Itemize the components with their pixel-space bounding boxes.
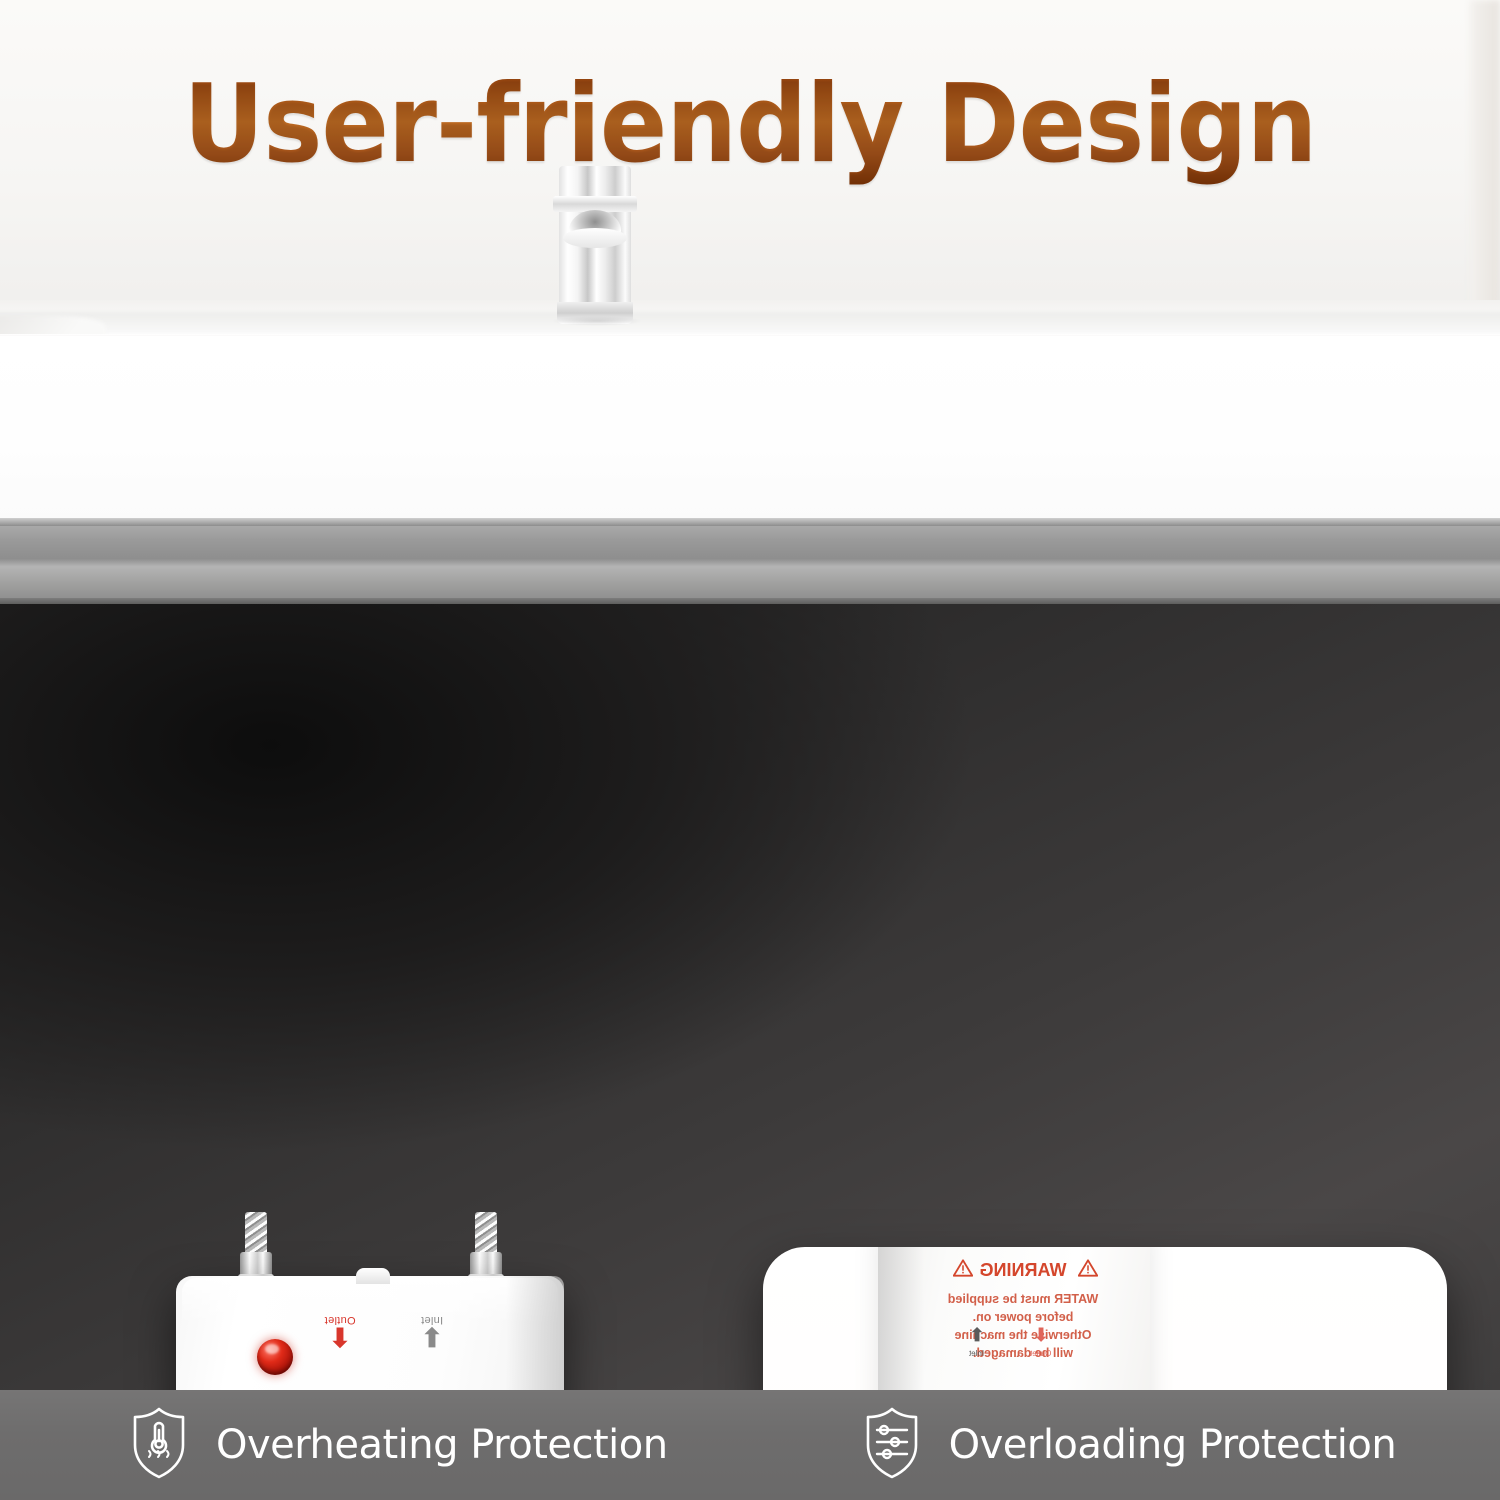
hose-braid xyxy=(475,1212,497,1256)
inset-warning-heading-row: WARNING xyxy=(923,1259,1123,1282)
inlet-label: Inlet xyxy=(396,1314,468,1326)
banner-label: Overheating Protection xyxy=(216,1422,668,1468)
water-heater-unit: ⬇ Inlet ⬆ Outlet xyxy=(176,1276,574,1390)
shield-thermometer-icon xyxy=(128,1406,190,1485)
inlet-arrow-icon: ⬆ xyxy=(949,1327,1005,1343)
inlet-outlet-markings: ⬇ Inlet ⬆ Outlet xyxy=(288,1296,468,1348)
hose-braid xyxy=(245,1212,267,1256)
cabinet-rail xyxy=(0,526,1500,604)
inset-warning-heading-text: WARNING xyxy=(980,1260,1067,1281)
banner-item-overheating: Overheating Protection xyxy=(128,1406,668,1485)
temperature-callout-panel: WARNING WATER must be supplied before po… xyxy=(763,1247,1447,1390)
outlet-arrow-icon: ⬆ xyxy=(304,1326,376,1348)
casing-top-nub xyxy=(356,1268,390,1284)
sink-inner-shadow xyxy=(0,312,1500,334)
outlet-label: Outlet xyxy=(304,1314,376,1326)
counter-underside-shadow xyxy=(0,518,1500,526)
inset-warning-line-2: before power on. xyxy=(923,1308,1123,1326)
inset-inlet-marking: ⬆ Inlet xyxy=(949,1327,1005,1361)
inset-inlet-label: Inlet xyxy=(969,1349,984,1358)
banner-label: Overloading Protection xyxy=(949,1422,1397,1468)
page-title: User-friendly Design xyxy=(60,62,1440,187)
faucet xyxy=(551,166,639,328)
warning-triangle-icon xyxy=(948,1259,974,1282)
inset-warning-line-1: WATER must be supplied xyxy=(923,1290,1123,1308)
product-marketing-image: User-friendly Design xyxy=(0,0,1500,1500)
inlet-arrow-icon: ⬇ xyxy=(396,1326,468,1348)
bottom-feature-banner: Overheating Protection xyxy=(0,1390,1500,1500)
indicator-gloss xyxy=(265,1344,279,1354)
casing-right-shading xyxy=(506,1276,564,1390)
faucet-shadow xyxy=(551,316,643,326)
inset-outlet-label: Outlet xyxy=(1030,1349,1051,1358)
wall-right-strip xyxy=(1470,0,1500,330)
inset-inlet-outlet-markings: ⬆ Inlet ⬇ Outlet xyxy=(949,1327,1069,1367)
inset-warning-label: WARNING WATER must be supplied before po… xyxy=(923,1251,1123,1390)
faucet-handle-lower xyxy=(563,228,627,248)
warning-triangle-icon xyxy=(1073,1259,1099,1282)
counter-front-panel xyxy=(0,336,1500,522)
outlet-marking: ⬆ Outlet xyxy=(304,1314,376,1348)
inlet-marking: ⬇ Inlet xyxy=(396,1314,468,1348)
inset-product-photo: WARNING WATER must be supplied before po… xyxy=(763,1247,1447,1390)
under-sink-dark-area: ⬇ Inlet ⬆ Outlet xyxy=(0,604,1500,1390)
banner-item-overloading: Overloading Protection xyxy=(861,1406,1397,1485)
shield-sliders-icon xyxy=(861,1406,923,1485)
outlet-arrow-icon: ⬇ xyxy=(1013,1327,1069,1343)
inset-outlet-marking: ⬇ Outlet xyxy=(1013,1327,1069,1361)
inset-unit-shading xyxy=(878,1247,924,1390)
